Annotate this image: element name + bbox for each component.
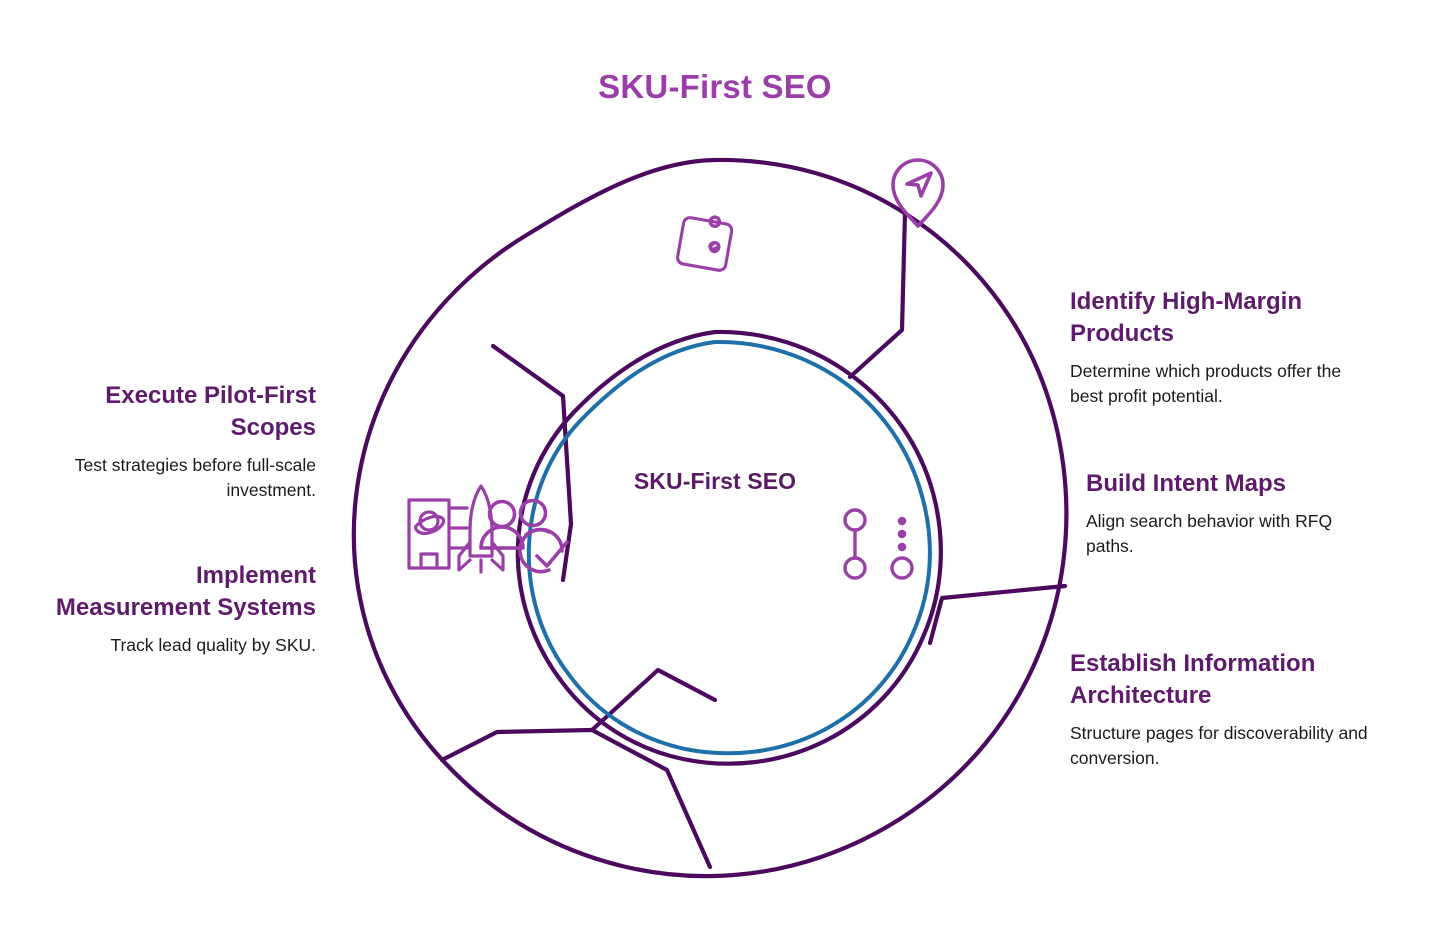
donut-inner-ring-teal [529,342,930,753]
callout-identify-high-margin-products: Identify High-Margin Products Determine … [1070,286,1370,410]
segment-divider-ne [850,213,905,377]
price-tag-icon [658,197,752,291]
callout-title: Execute Pilot-First Scopes [38,380,316,444]
callout-title: Identify High-Margin Products [1070,286,1370,350]
page-title: SKU-First SEO [0,68,1430,106]
diagram-canvas: SKU-First SEO [0,0,1430,933]
location-pin-navigate-icon [893,160,943,226]
callout-title: Implement Measurement Systems [38,560,316,624]
sitemap-nodes-icon [845,510,912,578]
callout-description: Determine which products offer the best … [1070,359,1370,410]
callout-title: Build Intent Maps [1086,468,1371,500]
callout-execute-pilot-first-scopes: Execute Pilot-First Scopes Test strategi… [38,380,316,504]
donut-chart [330,130,1100,900]
callout-description: Structure pages for discoverability and … [1070,721,1375,772]
donut-inner-ring [518,332,941,764]
callout-description: Track lead quality by SKU. [38,633,316,658]
callout-description: Align search behavior with RFQ paths. [1086,509,1371,560]
segment-divider-w [442,730,592,760]
rocket-launchpad-icon [409,486,503,572]
callout-description: Test strategies before full-scale invest… [38,453,316,504]
callout-title: Establish Information Architecture [1070,648,1375,712]
segment-divider-s [592,670,715,867]
center-label: SKU-First SEO [565,468,865,495]
segment-divider-nw [493,346,571,580]
callout-build-intent-maps: Build Intent Maps Align search behavior … [1086,468,1371,560]
callout-establish-information-architecture: Establish Information Architecture Struc… [1070,648,1375,772]
callout-implement-measurement-systems: Implement Measurement Systems Track lead… [38,560,316,658]
